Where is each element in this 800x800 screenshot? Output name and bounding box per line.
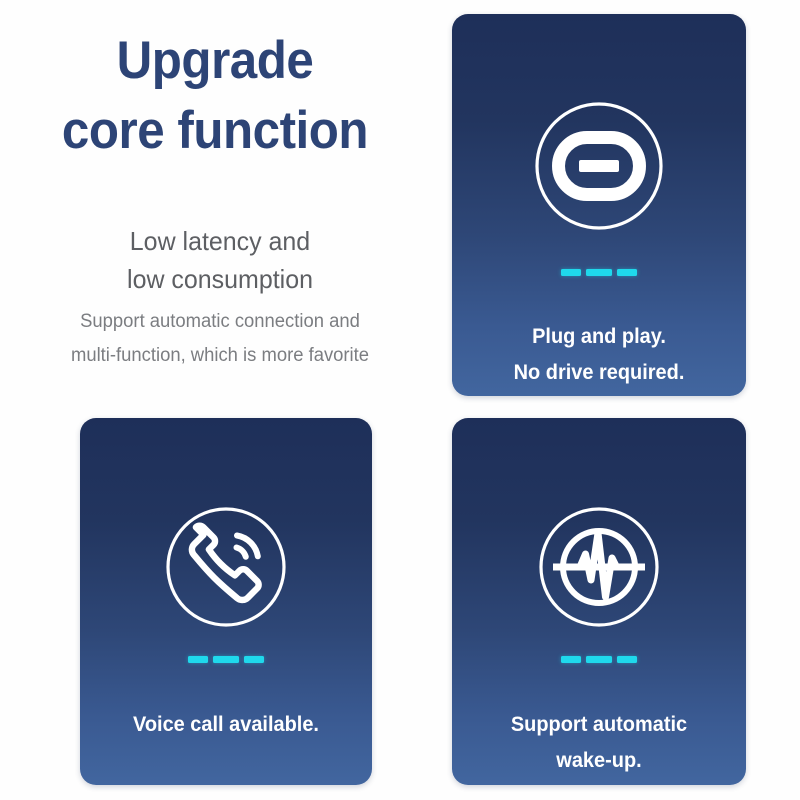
page-title-line-1: Upgrade <box>15 26 415 96</box>
chain-link-icon <box>529 96 669 236</box>
accent-dashes <box>561 269 637 276</box>
page-title: Upgrade core function <box>15 26 415 166</box>
feature-card-plug-and-play[interactable]: Plug and play. No drive required. <box>452 14 746 396</box>
hero-description: Support automatic connection and multi-f… <box>7 305 434 373</box>
hero-subtitle: Low latency and low consumption <box>9 222 431 298</box>
accent-dash <box>586 656 612 663</box>
page-title-line-2: core function <box>15 96 415 166</box>
card-caption-line-2: wake-up. <box>459 743 738 779</box>
card-caption: Support automatic wake-up. <box>459 707 738 779</box>
accent-dash <box>617 656 637 663</box>
card-caption-line-1: Voice call available. <box>87 707 364 743</box>
accent-dash <box>213 656 239 663</box>
card-caption-line-2: No drive required. <box>459 355 738 391</box>
hero-description-line-2: multi-function, which is more favorite <box>7 339 434 373</box>
accent-dash <box>586 269 612 276</box>
feature-card-voice-call[interactable]: Voice call available. <box>80 418 372 785</box>
phone-call-icon <box>151 492 301 642</box>
accent-dash <box>561 656 581 663</box>
card-caption: Voice call available. <box>87 707 364 743</box>
feature-card-auto-wake-up[interactable]: Support automatic wake-up. <box>452 418 746 785</box>
card-caption: Plug and play. No drive required. <box>459 319 738 391</box>
hero-subtitle-line-2: low consumption <box>9 260 431 298</box>
accent-dashes <box>561 656 637 663</box>
accent-dash <box>244 656 264 663</box>
accent-dashes <box>188 656 264 663</box>
hero-subtitle-line-1: Low latency and <box>9 222 431 260</box>
accent-dash <box>188 656 208 663</box>
accent-dash <box>561 269 581 276</box>
promo-banner: Upgrade core function Low latency and lo… <box>0 0 800 800</box>
hero-description-line-1: Support automatic connection and <box>7 305 434 339</box>
card-caption-line-1: Plug and play. <box>459 319 738 355</box>
pulse-waveform-icon <box>524 492 674 642</box>
card-caption-line-1: Support automatic <box>459 707 738 743</box>
accent-dash <box>617 269 637 276</box>
hero-copy-block: Upgrade core function Low latency and lo… <box>0 0 440 400</box>
